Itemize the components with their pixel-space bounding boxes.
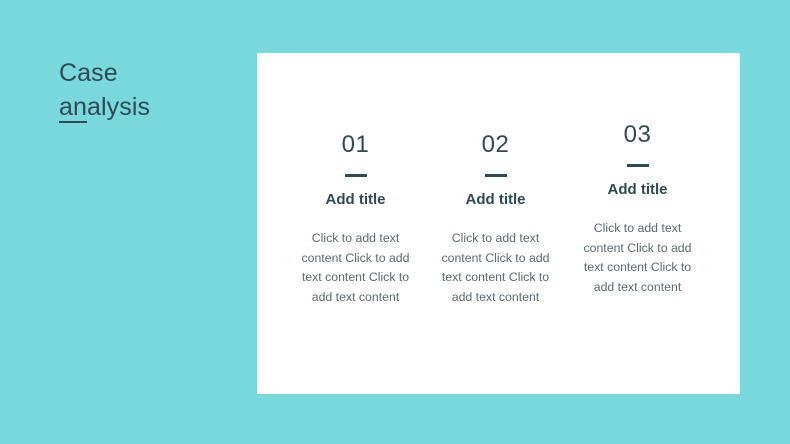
column-number: 03 — [571, 121, 704, 149]
column-title[interactable]: Add title — [289, 190, 422, 209]
title-rest-fragment: alysis — [87, 93, 150, 121]
column-03[interactable]: 03 Add title Click to add text content C… — [571, 121, 704, 297]
slide-title: Case analysis — [59, 56, 239, 124]
slide-canvas: Case analysis 01 Add title Click to add … — [0, 0, 790, 444]
divider-dash-icon — [485, 174, 507, 177]
content-card: 01 Add title Click to add text content C… — [257, 53, 740, 394]
column-02[interactable]: 02 Add title Click to add text content C… — [429, 131, 562, 307]
column-body-text[interactable]: Click to add text content Click to add t… — [429, 229, 562, 307]
column-body-text[interactable]: Click to add text content Click to add t… — [571, 219, 704, 297]
column-title[interactable]: Add title — [571, 180, 704, 199]
column-01[interactable]: 01 Add title Click to add text content C… — [289, 131, 422, 307]
divider-dash-icon — [627, 164, 649, 167]
title-underlined-fragment: an — [59, 90, 87, 124]
columns-container: 01 Add title Click to add text content C… — [257, 53, 740, 394]
title-line-1: Case — [59, 56, 239, 90]
column-number: 02 — [429, 131, 562, 159]
column-body-text[interactable]: Click to add text content Click to add t… — [289, 229, 422, 307]
title-line-2: analysis — [59, 90, 239, 124]
column-number: 01 — [289, 131, 422, 159]
divider-dash-icon — [345, 174, 367, 177]
column-title[interactable]: Add title — [429, 190, 562, 209]
